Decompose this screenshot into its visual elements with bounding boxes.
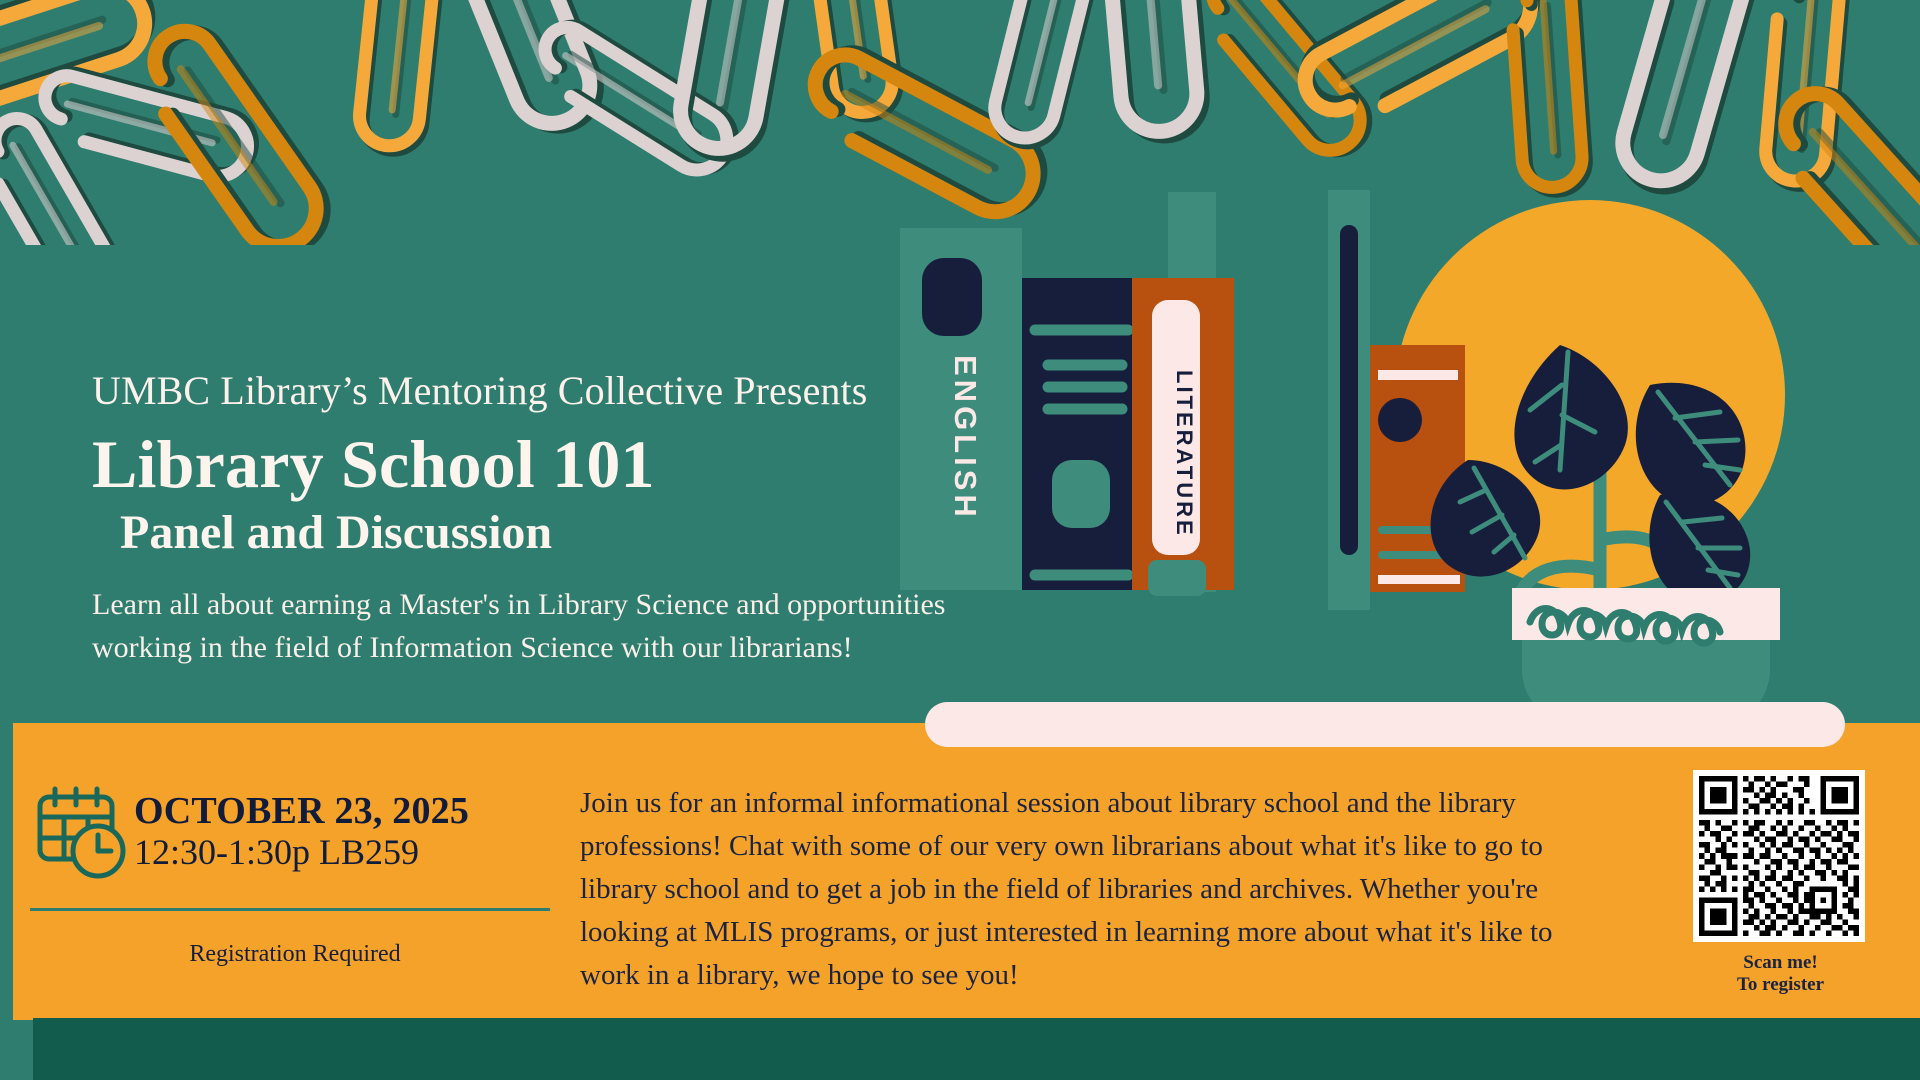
qr-column: Scan me! To register	[1693, 770, 1868, 997]
event-description: Join us for an informal informational se…	[580, 782, 1615, 997]
event-date: OCTOBER 23, 2025	[134, 792, 469, 832]
date-text-group: OCTOBER 23, 2025 12:30-1:30p LB259	[134, 792, 469, 872]
footer-bar	[33, 1018, 1920, 1080]
event-details-column: OCTOBER 23, 2025 12:30-1:30p LB259 Regis…	[35, 785, 555, 968]
qr-caption-line2: To register	[1693, 974, 1868, 996]
calendar-clock-icon	[35, 785, 130, 880]
event-blurb: Learn all about earning a Master's in Li…	[92, 584, 972, 669]
qr-code[interactable]	[1693, 770, 1865, 942]
bookshelf-illustration: ENGLISH LITERATURE	[900, 170, 1920, 750]
calendar-clock-svg	[35, 785, 130, 880]
presenter-line: UMBC Library’s Mentoring Collective Pres…	[92, 370, 992, 412]
headline-block: UMBC Library’s Mentoring Collective Pres…	[92, 370, 992, 669]
shelf-bar	[925, 702, 1845, 747]
book-spine-english-label: ENGLISH	[948, 355, 983, 521]
registration-note: Registration Required	[35, 941, 555, 968]
qr-code-svg[interactable]	[1699, 776, 1859, 936]
book-spine-literature-label: LITERATURE	[1172, 370, 1197, 538]
page-title: Library School 101	[92, 426, 992, 502]
event-time-location: 12:30-1:30p LB259	[134, 833, 469, 873]
bookshelf-svg: ENGLISH LITERATURE	[900, 170, 1920, 750]
date-row: OCTOBER 23, 2025 12:30-1:30p LB259	[35, 785, 555, 880]
page-subtitle: Panel and Discussion	[120, 506, 992, 560]
poster-canvas: UMBC Library’s Mentoring Collective Pres…	[0, 0, 1920, 1080]
divider-rule	[30, 908, 550, 911]
qr-caption-line1: Scan me!	[1693, 952, 1868, 974]
